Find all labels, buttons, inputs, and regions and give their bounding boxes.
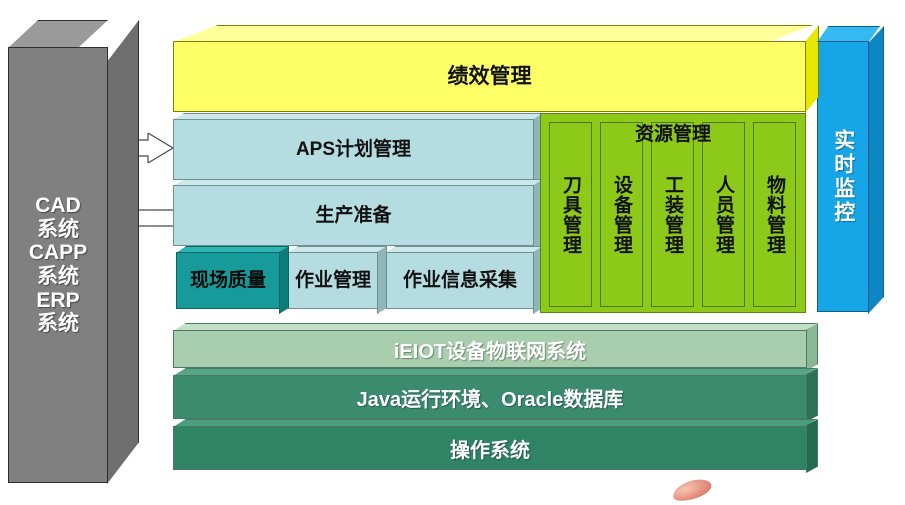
- diagram-canvas: CAD 系统 CAPP 系统 ERP 系统 绩效管理 实时监控 APS计划管理 …: [0, 0, 905, 497]
- job-info-collection-label: 作业信息采集: [403, 270, 517, 291]
- external-systems-side-face: [107, 20, 139, 484]
- aps-planning-label: APS计划管理: [296, 139, 411, 160]
- runtime-database-layer[interactable]: Java运行环境、Oracle数据库: [173, 375, 807, 419]
- resource-column-label: 人员管理: [710, 175, 737, 255]
- realtime-monitoring-column[interactable]: 实时监控: [817, 41, 869, 312]
- onsite-quality-top-face: [176, 246, 289, 253]
- operating-system-layer[interactable]: 操作系统: [173, 426, 807, 470]
- performance-bar-top-face: [173, 25, 813, 42]
- onsite-quality-panel[interactable]: 现场质量: [176, 252, 280, 309]
- resource-column-equipment[interactable]: 设备管理: [600, 122, 643, 307]
- resource-column-material[interactable]: 物料管理: [753, 122, 796, 307]
- onsite-quality-label: 现场质量: [190, 270, 266, 291]
- external-systems-top-face: [8, 20, 108, 48]
- decorative-blob: [670, 475, 714, 504]
- resource-column-personnel[interactable]: 人员管理: [702, 122, 745, 307]
- runtime-database-label: Java运行环境、Oracle数据库: [357, 383, 624, 412]
- performance-management-label: 绩效管理: [448, 65, 532, 89]
- job-operation-panel[interactable]: 作业管理: [288, 252, 378, 309]
- aps-planning-panel[interactable]: APS计划管理: [173, 119, 534, 180]
- onsite-quality-side-face: [279, 246, 289, 314]
- iot-layer-side-face: [806, 323, 818, 371]
- production-prep-panel[interactable]: 生产准备: [173, 185, 534, 246]
- resource-column-label: 工装管理: [659, 175, 686, 255]
- runtime-layer-side-face: [806, 368, 818, 422]
- external-systems-pillar[interactable]: CAD 系统 CAPP 系统 ERP 系统: [8, 47, 108, 483]
- resource-column-tooling[interactable]: 刀具管理: [549, 122, 592, 307]
- performance-management-bar[interactable]: 绩效管理: [173, 41, 806, 112]
- realtime-monitoring-label: 实时监控: [831, 129, 855, 225]
- resource-management-title: 资源管理: [540, 119, 806, 145]
- external-systems-label: CAD 系统 CAPP 系统 ERP 系统: [29, 194, 87, 335]
- job-info-collection-panel[interactable]: 作业信息采集: [386, 252, 534, 309]
- realtime-column-side-face: [868, 26, 884, 314]
- operating-system-label: 操作系统: [450, 434, 530, 463]
- realtime-column-top-face: [817, 26, 880, 42]
- resource-column-fixture[interactable]: 工装管理: [651, 122, 694, 307]
- os-layer-side-face: [806, 419, 818, 473]
- production-prep-label: 生产准备: [315, 205, 391, 226]
- iot-platform-label: iEIOT设备物联网系统: [394, 335, 586, 364]
- resource-column-label: 物料管理: [761, 175, 788, 255]
- resource-column-label: 刀具管理: [557, 175, 584, 255]
- job-operation-label: 作业管理: [295, 270, 371, 291]
- iot-platform-layer[interactable]: iEIOT设备物联网系统: [173, 330, 807, 368]
- resource-column-label: 设备管理: [608, 175, 635, 255]
